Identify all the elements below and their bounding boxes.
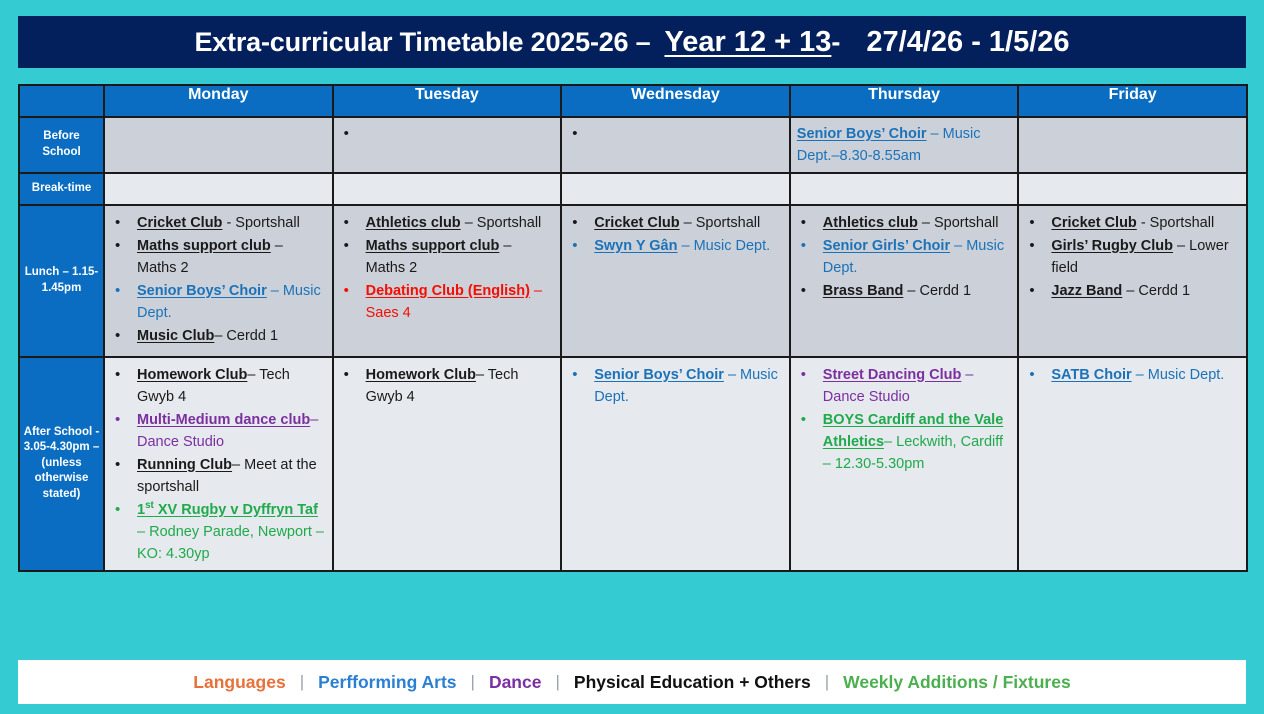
cell-after-school-thursday[interactable]: •Street Dancing Club – Dance Studio•BOYS…	[790, 357, 1019, 571]
cell-lunch-thursday[interactable]: •Athletics club – Sportshall•Senior Girl…	[790, 205, 1019, 357]
activity-name: Brass Band	[823, 283, 904, 299]
cell-break-time-wednesday[interactable]	[561, 173, 790, 205]
legend-item-weekly-additions: Weekly Additions / Fixtures	[843, 672, 1071, 693]
bullet-icon: •	[115, 409, 120, 432]
activity-list-item[interactable]: •Homework Club– Tech Gwyb 4	[109, 364, 326, 408]
legend-item-languages: Languages	[193, 672, 285, 693]
bullet-icon: •	[572, 212, 577, 235]
activity-list-item[interactable]: •Athletics club – Sportshall	[338, 212, 555, 234]
activity-name: Cricket Club	[137, 215, 222, 231]
legend-bar: Languages | Perfforming Arts | Dance | P…	[18, 660, 1246, 704]
activity-name: Street Dancing Club	[823, 367, 962, 383]
bullet-icon: •	[344, 235, 349, 258]
activity-list-item[interactable]: •Multi-Medium dance club– Dance Studio	[109, 409, 326, 453]
header-corner	[19, 85, 104, 117]
activity-name: 1st XV Rugby v Dyffryn Taf	[137, 502, 318, 518]
activity-name: Senior Girls’ Choir	[823, 238, 950, 254]
column-header-wednesday: Wednesday	[561, 85, 790, 117]
activity-list: •Cricket Club - Sportshall•Maths support…	[109, 212, 326, 347]
activity-list-item[interactable]: •Senior Girls’ Choir – Music Dept.	[795, 235, 1012, 279]
cell-before-school-friday[interactable]	[1018, 117, 1247, 173]
activity-detail: - Sportshall	[222, 215, 299, 231]
activity-list: •Senior Boys’ Choir – Music Dept.	[566, 364, 783, 408]
row-label-before-school: Before School	[19, 117, 104, 173]
activity-name: Senior Boys’ Choir	[137, 283, 267, 299]
activity-detail: – Cerdd 1	[214, 328, 278, 344]
activity-detail: – Cerdd 1	[903, 283, 971, 299]
activity-list: •Athletics club – Sportshall•Senior Girl…	[795, 212, 1012, 302]
activity-list: •Athletics club – Sportshall•Maths suppo…	[338, 212, 555, 324]
activity-name: Maths support club	[137, 238, 271, 254]
timetable-table: Monday Tuesday Wednesday Thursday Friday…	[18, 84, 1248, 572]
cell-after-school-tuesday[interactable]: •Homework Club– Tech Gwyb 4	[333, 357, 562, 571]
activity-list: •Cricket Club - Sportshall•Girls’ Rugby …	[1023, 212, 1240, 302]
activity-list: •Street Dancing Club – Dance Studio•BOYS…	[795, 364, 1012, 475]
cell-after-school-friday[interactable]: •SATB Choir – Music Dept.	[1018, 357, 1247, 571]
cell-lunch-monday[interactable]: •Cricket Club - Sportshall•Maths support…	[104, 205, 333, 357]
activity-entry: Senior Boys’ Choir – Music Dept.–8.30-8.…	[795, 124, 1012, 168]
legend-separator-3: |	[541, 672, 573, 692]
bullet-icon: •	[1029, 212, 1034, 235]
bullet-icon: •	[572, 235, 577, 258]
activity-list-item[interactable]: •Street Dancing Club – Dance Studio	[795, 364, 1012, 408]
bullet-icon: •	[115, 280, 120, 303]
page-title-bar: Extra-curricular Timetable 2025-26 – Yea…	[18, 16, 1246, 68]
activity-detail: – Music Dept.	[677, 238, 770, 254]
bullet-icon: •	[801, 409, 806, 432]
activity-list-item[interactable]: •BOYS Cardiff and the Vale Athletics– Le…	[795, 409, 1012, 475]
bullet-icon: •	[801, 212, 806, 235]
timetable-header-row: Monday Tuesday Wednesday Thursday Friday	[19, 85, 1247, 117]
legend-separator-4: |	[811, 672, 843, 692]
bullet-icon: •	[115, 235, 120, 258]
timetable-body: Before School • • Senior Boys’ Choir – M…	[19, 117, 1247, 571]
empty-bullet-icon: •	[566, 124, 783, 141]
activity-detail: – Sportshall	[680, 215, 761, 231]
activity-name: Debating Club (English)	[366, 283, 530, 299]
bullet-icon: •	[1029, 280, 1034, 303]
activity-list-item[interactable]: •Cricket Club – Sportshall	[566, 212, 783, 234]
column-header-thursday: Thursday	[790, 85, 1019, 117]
activity-list-item[interactable]: •SATB Choir – Music Dept.	[1023, 364, 1240, 386]
bullet-icon: •	[801, 235, 806, 258]
activity-list-item[interactable]: •Debating Club (English) – Saes 4	[338, 280, 555, 324]
activity-list: •Cricket Club – Sportshall•Swyn Y Gân – …	[566, 212, 783, 257]
cell-break-time-tuesday[interactable]	[333, 173, 562, 205]
page-title-main: Extra-curricular Timetable 2025-26 –	[194, 27, 650, 58]
activity-list-item[interactable]: •Homework Club– Tech Gwyb 4	[338, 364, 555, 408]
column-header-friday: Friday	[1018, 85, 1247, 117]
activity-name: Maths support club	[366, 238, 500, 254]
activity-list: •SATB Choir – Music Dept.	[1023, 364, 1240, 386]
cell-before-school-thursday[interactable]: Senior Boys’ Choir – Music Dept.–8.30-8.…	[790, 117, 1019, 173]
activity-name: SATB Choir	[1051, 367, 1131, 383]
activity-list-item[interactable]: •Athletics club – Sportshall	[795, 212, 1012, 234]
row-after-school: After School - 3.05-4.30pm – (unless oth…	[19, 357, 1247, 571]
column-header-tuesday: Tuesday	[333, 85, 562, 117]
bullet-icon: •	[115, 212, 120, 235]
activity-list-item[interactable]: •Jazz Band – Cerdd 1	[1023, 280, 1240, 302]
cell-break-time-friday[interactable]	[1018, 173, 1247, 205]
activity-list-item[interactable]: •Music Club– Cerdd 1	[109, 325, 326, 347]
activity-detail: – Sportshall	[918, 215, 999, 231]
row-before-school: Before School • • Senior Boys’ Choir – M…	[19, 117, 1247, 173]
activity-detail: – Sportshall	[461, 215, 542, 231]
cell-after-school-wednesday[interactable]: •Senior Boys’ Choir – Music Dept.	[561, 357, 790, 571]
activity-detail: - Sportshall	[1137, 215, 1214, 231]
bullet-icon: •	[115, 325, 120, 348]
row-break-time: Break-time	[19, 173, 1247, 205]
activity-name: Jazz Band	[1051, 283, 1122, 299]
bullet-icon: •	[115, 499, 120, 522]
page-title-date-range: 27/4/26 - 1/5/26	[866, 26, 1069, 59]
cell-lunch-wednesday[interactable]: •Cricket Club – Sportshall•Swyn Y Gân – …	[561, 205, 790, 357]
row-label-after-school: After School - 3.05-4.30pm – (unless oth…	[19, 357, 104, 571]
activity-name: Running Club	[137, 457, 232, 473]
activity-list: •Homework Club– Tech Gwyb 4•Multi-Medium…	[109, 364, 326, 565]
bullet-icon: •	[344, 212, 349, 235]
activity-name: Cricket Club	[594, 215, 679, 231]
empty-bullet-icon: •	[338, 124, 555, 141]
legend-item-physical-education: Physical Education + Others	[574, 672, 811, 693]
bullet-icon: •	[115, 364, 120, 387]
activity-name: Multi-Medium dance club	[137, 412, 310, 428]
activity-list-item[interactable]: •Maths support club – Maths 2	[109, 235, 326, 279]
activity-list: •Homework Club– Tech Gwyb 4	[338, 364, 555, 408]
cell-after-school-monday[interactable]: •Homework Club– Tech Gwyb 4•Multi-Medium…	[104, 357, 333, 571]
cell-before-school-wednesday[interactable]: •	[561, 117, 790, 173]
activity-name: Cricket Club	[1051, 215, 1136, 231]
activity-name: Music Club	[137, 328, 214, 344]
page-title-year-group: Year 12 + 13	[664, 26, 831, 59]
bullet-icon: •	[572, 364, 577, 387]
activity-name: Senior Boys’ Choir	[797, 126, 927, 142]
cell-before-school-monday[interactable]	[104, 117, 333, 173]
activity-name: Swyn Y Gân	[594, 238, 677, 254]
row-label-break-time: Break-time	[19, 173, 104, 205]
activity-list-item[interactable]: •Running Club– Meet at the sportshall	[109, 454, 326, 498]
bullet-icon: •	[1029, 235, 1034, 258]
activity-list-item[interactable]: •Cricket Club - Sportshall	[109, 212, 326, 234]
cell-break-time-thursday[interactable]	[790, 173, 1019, 205]
activity-name: Homework Club	[137, 367, 247, 383]
activity-list-item[interactable]: •Cricket Club - Sportshall	[1023, 212, 1240, 234]
column-header-monday: Monday	[104, 85, 333, 117]
activity-name: Athletics club	[823, 215, 918, 231]
activity-name: Homework Club	[366, 367, 476, 383]
activity-name: Athletics club	[366, 215, 461, 231]
cell-before-school-tuesday[interactable]: •	[333, 117, 562, 173]
bullet-icon: •	[344, 280, 349, 303]
activity-name: Senior Boys’ Choir	[594, 367, 724, 383]
legend-item-dance: Dance	[489, 672, 542, 693]
legend-separator-2: |	[457, 672, 489, 692]
bullet-icon: •	[801, 280, 806, 303]
activity-list-item[interactable]: •Senior Boys’ Choir – Music Dept.	[566, 364, 783, 408]
row-label-lunch: Lunch – 1.15-1.45pm	[19, 205, 104, 357]
activity-list-item[interactable]: •Girls’ Rugby Club – Lower field	[1023, 235, 1240, 279]
activity-name: Girls’ Rugby Club	[1051, 238, 1173, 254]
legend-separator-1: |	[286, 672, 318, 692]
cell-lunch-tuesday[interactable]: •Athletics club – Sportshall•Maths suppo…	[333, 205, 562, 357]
activity-list-item[interactable]: •Maths support club – Maths 2	[338, 235, 555, 279]
ordinal-suffix: st	[145, 500, 154, 511]
activity-list-item[interactable]: •1st XV Rugby v Dyffryn Taf – Rodney Par…	[109, 499, 326, 565]
bullet-icon: •	[1029, 364, 1034, 387]
bullet-icon: •	[344, 364, 349, 387]
activity-detail: – Rodney Parade, Newport – KO: 4.30yp	[137, 524, 324, 562]
activity-list-item[interactable]: •Senior Boys’ Choir – Music Dept.	[109, 280, 326, 324]
activity-list-item[interactable]: •Swyn Y Gân – Music Dept.	[566, 235, 783, 257]
cell-lunch-friday[interactable]: •Cricket Club - Sportshall•Girls’ Rugby …	[1018, 205, 1247, 357]
activity-detail: – Music Dept.	[1132, 367, 1225, 383]
timetable-page: Extra-curricular Timetable 2025-26 – Yea…	[0, 0, 1264, 714]
bullet-icon: •	[801, 364, 806, 387]
row-lunch: Lunch – 1.15-1.45pm •Cricket Club - Spor…	[19, 205, 1247, 357]
cell-break-time-monday[interactable]	[104, 173, 333, 205]
activity-list-item[interactable]: •Brass Band – Cerdd 1	[795, 280, 1012, 302]
bullet-icon: •	[115, 454, 120, 477]
activity-detail: – Cerdd 1	[1122, 283, 1190, 299]
legend-item-performing-arts: Perfforming Arts	[318, 672, 456, 693]
page-title-dash: -	[831, 27, 840, 58]
